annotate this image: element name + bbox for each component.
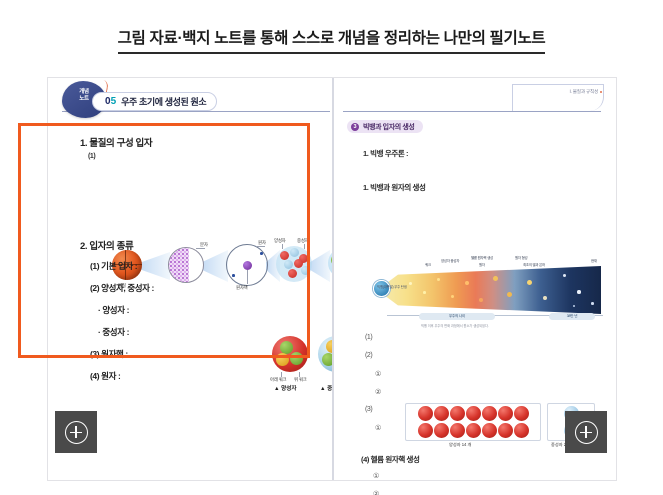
proton-col bbox=[514, 406, 529, 438]
bigbang-caption: 빅뱅 이후 우주의 변화 과정에서 원소가 생성되었다. bbox=[421, 323, 489, 328]
right-item-5: ① bbox=[375, 370, 381, 378]
section-number-icon: 3 bbox=[351, 123, 359, 131]
proton-col bbox=[434, 406, 449, 438]
quark-label-up: 위 쿼크 bbox=[294, 377, 307, 383]
plus-icon bbox=[65, 421, 88, 444]
proton-dot bbox=[434, 406, 449, 421]
book-spread: 개념 노트 05 우주 초기에 생성된 원소 1. 물질의 구성 입자 (1) bbox=[48, 78, 616, 480]
section-1-item-1: (1) bbox=[88, 153, 95, 160]
bigbang-timeline-diagram: 빅뱅(대폭발) 우주 탄생 쿼크 양성자 중성자 헬륨 원자핵 생성 원자 원자… bbox=[367, 260, 605, 326]
proton-dot bbox=[498, 406, 513, 421]
bb-label-3: 헬륨 원자핵 생성 bbox=[471, 255, 493, 260]
section-2-item-2: (2) 양성자, 중성자 : bbox=[90, 282, 154, 294]
chapter-number: 05 bbox=[105, 96, 116, 107]
section-2-item-6: (4) 원자 : bbox=[90, 370, 120, 382]
page-title: 그림 자료·백지 노트를 통해 스스로 개념을 정리하는 나만의 필기노트 bbox=[0, 26, 663, 54]
zoom-in-left-button[interactable] bbox=[55, 411, 97, 453]
proton-dot bbox=[466, 406, 481, 421]
nucleon-cluster bbox=[276, 246, 312, 282]
right-tab-label: Ⅰ. 물질과 규칙성 bbox=[569, 89, 598, 95]
proton-dot bbox=[450, 423, 465, 438]
proton-grid-box bbox=[405, 403, 541, 441]
right-header-rule bbox=[343, 111, 601, 112]
screenshot-root: 그림 자료·백지 노트를 통해 스스로 개념을 정리하는 나만의 필기노트 개념… bbox=[0, 0, 663, 495]
label-neutron: 중성자 bbox=[297, 238, 309, 244]
section-2-heading: 2. 입자의 종류 bbox=[80, 238, 133, 252]
proton-ball bbox=[272, 336, 308, 372]
proton-col bbox=[450, 406, 465, 438]
chapter-title: 우주 초기에 생성된 원소 bbox=[121, 95, 206, 108]
proton-dot bbox=[466, 423, 481, 438]
proton-dot bbox=[498, 423, 513, 438]
bb-label-5: 원자 형성 bbox=[515, 255, 527, 260]
proton-dot bbox=[514, 423, 529, 438]
bb-label-2: 양성자 중성자 bbox=[441, 258, 459, 263]
right-item-3: (1) bbox=[365, 334, 372, 341]
section-badge: 3 빅뱅과 입자의 생성 bbox=[347, 120, 423, 133]
section-2-item-1: (1) 기본 입자 : bbox=[90, 260, 137, 272]
right-item-7: (3) bbox=[365, 406, 372, 413]
section-1-heading: 1. 물질의 구성 입자 bbox=[80, 135, 152, 149]
right-item-11: ② bbox=[373, 490, 379, 495]
bigbang-cone bbox=[385, 266, 601, 314]
right-item-8: ① bbox=[375, 424, 381, 432]
section-badge-label: 빅뱅과 입자의 생성 bbox=[363, 122, 414, 132]
proton-dot bbox=[482, 406, 497, 421]
proton-dot bbox=[514, 406, 529, 421]
bb-label-7: 현재 bbox=[591, 258, 597, 263]
bb-axis-label-1: 38만 년 bbox=[549, 313, 595, 320]
bb-label-6: 최초의 별과 은하 bbox=[523, 262, 545, 267]
proton-dot bbox=[450, 406, 465, 421]
chapter-pill: 05 우주 초기에 생성된 원소 bbox=[92, 92, 217, 111]
proton-col bbox=[466, 406, 481, 438]
header-rule bbox=[62, 111, 330, 112]
right-item-2: 1. 빅뱅과 원자의 생성 bbox=[363, 182, 426, 193]
badge-line2: 노트 bbox=[79, 96, 89, 102]
bb-label-1: 쿼크 bbox=[425, 262, 431, 267]
page-title-text: 그림 자료·백지 노트를 통해 스스로 개념을 정리하는 나만의 필기노트 bbox=[118, 26, 546, 54]
book-gutter bbox=[332, 78, 334, 480]
label-molecule: 분자 bbox=[200, 242, 208, 248]
plus-icon bbox=[575, 421, 598, 444]
badge-line1: 개념 bbox=[79, 89, 89, 95]
right-item-1: 1. 빅뱅 우주론 : bbox=[363, 148, 408, 159]
molecule-circle bbox=[168, 247, 204, 283]
electron-2 bbox=[232, 274, 235, 277]
section-2-item-4: · 중성자 : bbox=[98, 326, 129, 338]
label-nucleus: 원자핵 bbox=[236, 285, 248, 291]
proton-col bbox=[482, 406, 497, 438]
proton-col bbox=[418, 406, 433, 438]
left-page-header: 개념 노트 05 우주 초기에 생성된 원소 bbox=[48, 78, 333, 118]
section-2-item-3: · 양성자 : bbox=[98, 304, 129, 316]
proton-dot bbox=[434, 423, 449, 438]
bb-axis-label-0: 우주의 나이 bbox=[419, 313, 495, 320]
electron-1 bbox=[260, 252, 263, 255]
label-proton: 양성자 bbox=[274, 238, 286, 244]
proton-caption: ▲ 양성자 bbox=[274, 384, 297, 392]
cone-2 bbox=[202, 250, 228, 282]
nucleus-dot bbox=[243, 261, 252, 270]
tab-dot-icon bbox=[600, 91, 602, 93]
right-item-9: (4) 헬륨 원자핵 생성 bbox=[361, 454, 420, 465]
right-item-4: (2) bbox=[365, 352, 372, 359]
proton-count-caption: 양성자 14 개 bbox=[449, 442, 471, 448]
label-atom: 원자 bbox=[258, 240, 266, 246]
right-item-6: ② bbox=[375, 388, 381, 396]
bb-label-4: 원자 bbox=[479, 262, 485, 267]
cone-4 bbox=[310, 250, 330, 282]
proton-dot bbox=[418, 423, 433, 438]
quark-label-down: 아래 쿼크 bbox=[270, 377, 286, 383]
proton-dot bbox=[418, 406, 433, 421]
zoom-in-right-button[interactable] bbox=[565, 411, 607, 453]
proton-col bbox=[498, 406, 513, 438]
proton-dot bbox=[482, 423, 497, 438]
cone-1 bbox=[140, 252, 170, 280]
section-2-item-5: (3) 원자핵 : bbox=[90, 348, 128, 360]
right-item-10: ① bbox=[373, 472, 379, 480]
bb-label-0: 빅뱅(대폭발) 우주 탄생 bbox=[377, 284, 407, 289]
